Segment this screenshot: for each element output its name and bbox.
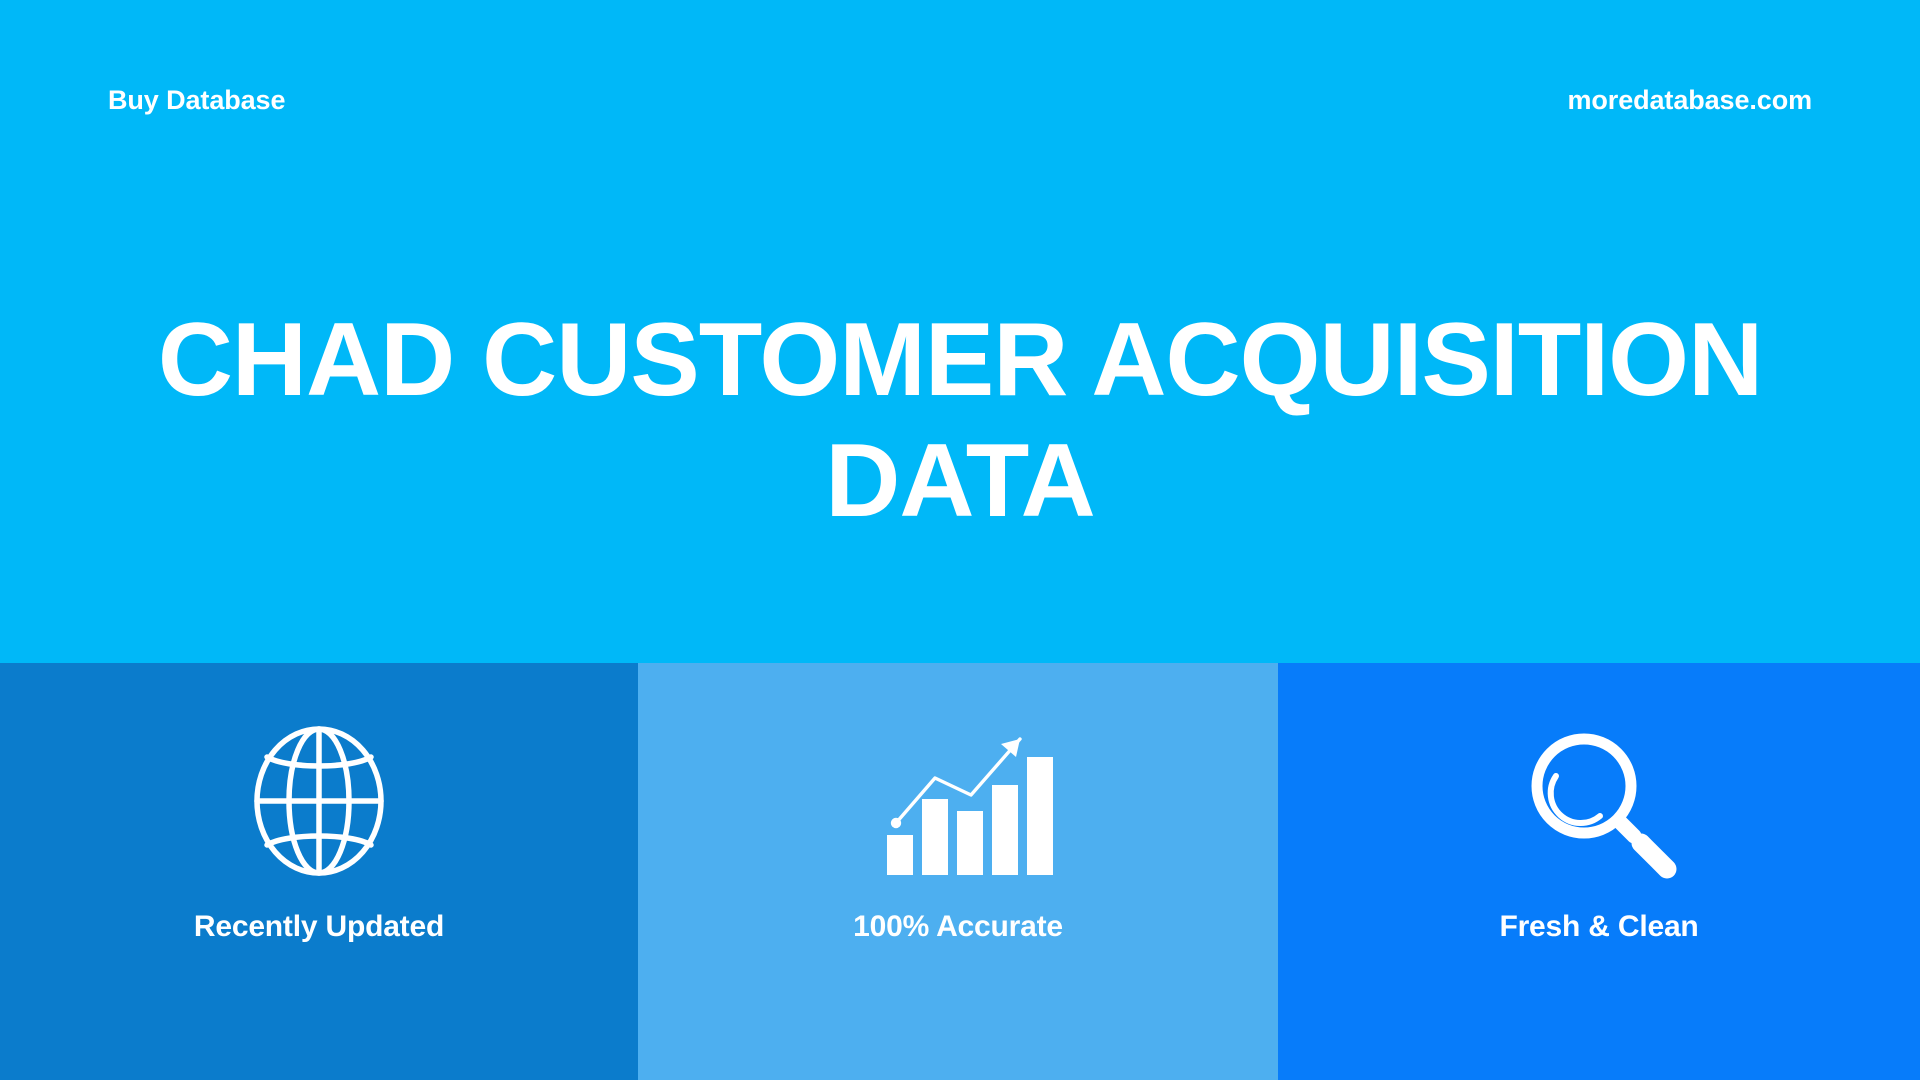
feature-panel-fresh-clean: Fresh & Clean — [1278, 663, 1920, 1080]
feature-panel-recently-updated: Recently Updated — [0, 663, 638, 1080]
globe-icon — [229, 713, 409, 888]
feature-panel-accurate: 100% Accurate — [638, 663, 1278, 1080]
brand-row: Buy Database moredatabase.com — [108, 85, 1812, 116]
feature-panel-label: Recently Updated — [194, 910, 444, 944]
title-container: CHAD CUSTOMER ACQUISITION DATA — [0, 300, 1920, 541]
feature-panel-label: Fresh & Clean — [1499, 910, 1698, 944]
banner-header: Buy Database moredatabase.com CHAD CUSTO… — [0, 0, 1920, 663]
feature-panels: Recently Updated — [0, 663, 1920, 1080]
magnifier-icon — [1509, 713, 1689, 888]
brand-name: Buy Database — [108, 85, 285, 116]
page-title: CHAD CUSTOMER ACQUISITION DATA — [70, 300, 1850, 541]
feature-panel-label: 100% Accurate — [853, 910, 1063, 944]
promo-banner: Buy Database moredatabase.com CHAD CUSTO… — [0, 0, 1920, 1080]
bar-chart-growth-icon — [868, 713, 1048, 888]
website-url: moredatabase.com — [1568, 85, 1813, 116]
